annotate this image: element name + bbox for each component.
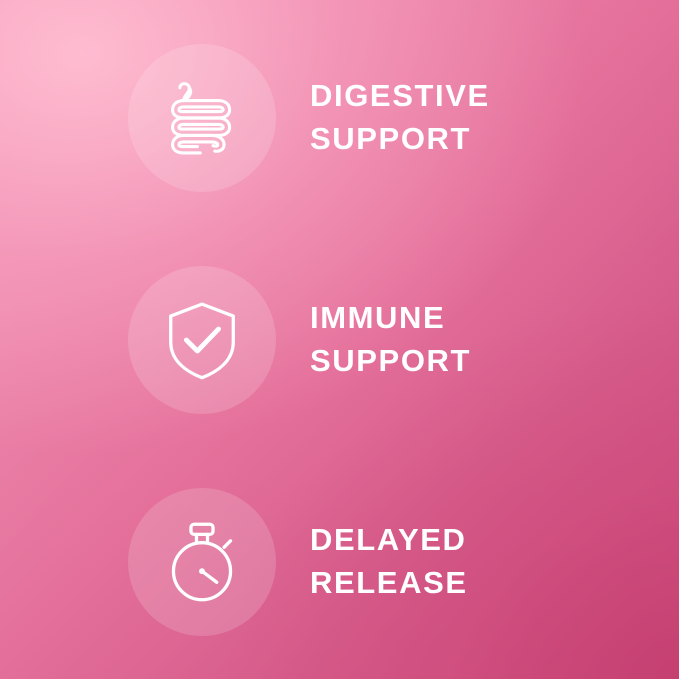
- feature-label-line-1: Digestive: [310, 75, 490, 118]
- shield-check-icon-badge: [128, 266, 276, 414]
- feature-label-line-2: Support: [310, 118, 490, 161]
- feature-row-digestive-support: Digestive Support: [0, 7, 679, 229]
- intestine-icon: [156, 72, 248, 164]
- feature-label-delayed-release: Delayed Release: [310, 519, 468, 605]
- feature-label-line-1: Delayed: [310, 519, 468, 562]
- feature-label-line-2: Release: [310, 562, 468, 605]
- stopwatch-icon: [156, 516, 248, 608]
- feature-label-line-1: Immune: [310, 297, 471, 340]
- shield-check-icon: [156, 294, 248, 386]
- feature-list: Digestive Support Immune Support: [0, 0, 679, 679]
- intestine-icon-badge: [128, 44, 276, 192]
- feature-row-immune-support: Immune Support: [0, 229, 679, 451]
- feature-label-immune-support: Immune Support: [310, 297, 471, 383]
- feature-row-delayed-release: Delayed Release: [0, 451, 679, 673]
- feature-label-line-2: Support: [310, 340, 471, 383]
- stopwatch-icon-badge: [128, 488, 276, 636]
- feature-label-digestive-support: Digestive Support: [310, 75, 490, 161]
- feature-poster: Digestive Support Immune Support: [0, 0, 679, 679]
